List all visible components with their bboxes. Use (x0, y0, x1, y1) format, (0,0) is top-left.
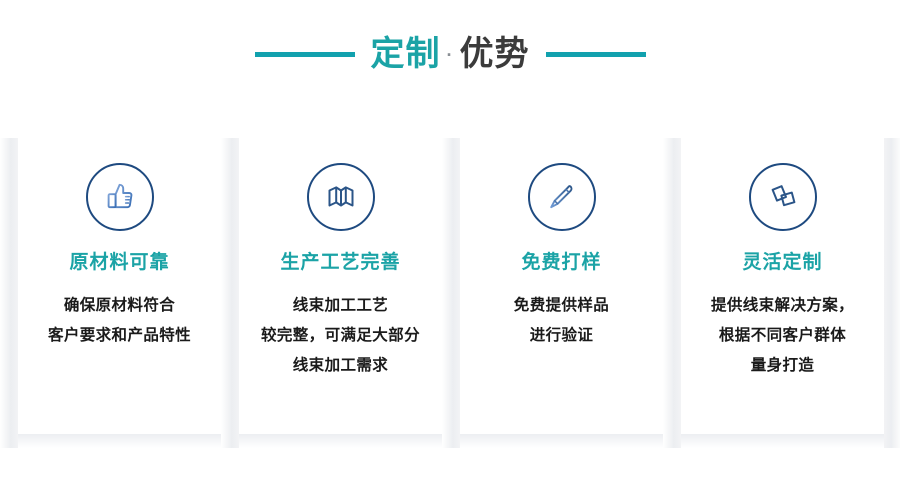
advantage-card[interactable]: 免费打样 免费提供样品 进行验证 (460, 146, 663, 434)
title-separator-dot: · (447, 46, 454, 64)
advantage-card-list: 原材料可靠 确保原材料符合 客户要求和产品特性 生产工艺完善 线束加工工艺 较完… (18, 146, 884, 434)
advantage-card-body-line: 线束加工工艺 (261, 291, 420, 321)
advantage-card-body: 免费提供样品 进行验证 (506, 291, 617, 351)
advantage-card-body-line: 根据不同客户群体 (711, 321, 854, 351)
advantage-card-heading: 原材料可靠 (69, 253, 169, 272)
advantage-card-body-line: 确保原材料符合 (48, 291, 191, 321)
advantage-card-body: 线束加工工艺 较完整，可满足大部分 线束加工需求 (253, 291, 428, 381)
advantage-card-body-line: 提供线束解决方案， (711, 291, 854, 321)
title-sub-text: 优势 (460, 37, 530, 71)
advantage-card-body-line: 免费提供样品 (514, 291, 609, 321)
customization-advantages-section: 定制 · 优势 (0, 0, 900, 499)
title-rule-left-icon (255, 52, 355, 57)
advantage-card[interactable]: 生产工艺完善 线束加工工艺 较完整，可满足大部分 线束加工需求 (239, 146, 442, 434)
advantage-card-heading: 免费打样 (521, 253, 601, 272)
card-edge-shadow (884, 138, 900, 448)
section-title: 定制 · 优势 (0, 28, 900, 80)
advantage-card-body-line: 客户要求和产品特性 (48, 321, 191, 351)
advantage-card-body-line: 量身打造 (711, 351, 854, 381)
title-main-text: 定制 (371, 37, 441, 71)
advantage-card[interactable]: 灵活定制 提供线束解决方案， 根据不同客户群体 量身打造 (681, 146, 884, 434)
advantage-card-heading: 生产工艺完善 (280, 253, 400, 272)
advantage-card-body-line: 较完整，可满足大部分 (261, 321, 420, 351)
advantage-card-body-line: 线束加工需求 (261, 351, 420, 381)
advantage-card-body: 确保原材料符合 客户要求和产品特性 (40, 291, 199, 351)
folded-map-icon (307, 163, 375, 231)
thumbs-up-icon (86, 163, 154, 231)
advantage-card-body-line: 进行验证 (514, 321, 609, 351)
title-rule-right-icon (546, 52, 646, 57)
pencil-icon (528, 163, 596, 231)
advantage-card-body: 提供线束解决方案， 根据不同客户群体 量身打造 (703, 291, 862, 381)
page-title: 定制 · 优势 (371, 37, 530, 71)
advantage-card[interactable]: 原材料可靠 确保原材料符合 客户要求和产品特性 (18, 146, 221, 434)
stacked-cards-icon (749, 163, 817, 231)
advantage-card-heading: 灵活定制 (742, 253, 822, 272)
